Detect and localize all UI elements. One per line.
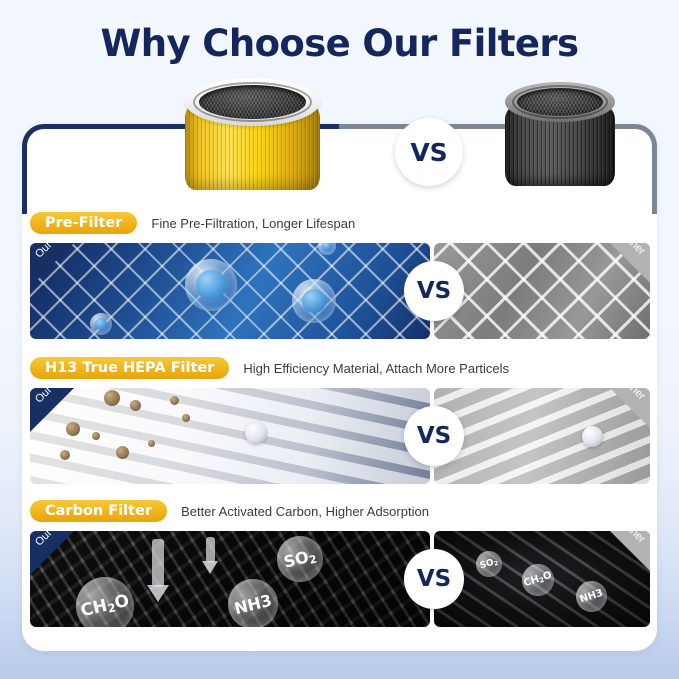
our-filter-product-image [185, 78, 320, 190]
molecule-nh3: NH3 [572, 577, 611, 616]
molecule-label: NH3 [579, 588, 605, 606]
comparison-panels: Our CH2O SO2 NH3 VS Other SO2 CH2O [30, 531, 650, 627]
section-hepa-filter: H13 True HEPA Filter High Efficiency Mat… [30, 355, 650, 484]
molecule-label: CH2O [522, 570, 553, 590]
other-pre-filter-panel: Other [434, 243, 650, 339]
other-filter-product-image [505, 82, 615, 186]
molecule-label: SO2 [479, 556, 500, 571]
section-header: H13 True HEPA Filter High Efficiency Mat… [30, 355, 650, 381]
adsorption-arrow-stem [206, 537, 215, 563]
pearl-particle [245, 422, 267, 444]
section-carbon-filter: Carbon Filter Better Activated Carbon, H… [30, 498, 650, 627]
adsorption-arrow-head [202, 561, 218, 574]
section-tagline: Better Activated Carbon, Higher Adsorpti… [181, 504, 429, 519]
dust-particle [116, 446, 129, 459]
adsorption-arrow-stem [152, 539, 164, 587]
section-pill-pre-filter: Pre-Filter [30, 212, 137, 234]
comparison-panels: Our VS Other [30, 243, 650, 339]
vs-badge-row: VS [404, 406, 464, 466]
our-hepa-panel: Our [30, 388, 430, 484]
particle-bubble [292, 279, 336, 323]
molecule-label: NH3 [232, 590, 273, 618]
vs-badge-hero: VS [395, 118, 463, 186]
section-tagline: Fine Pre-Filtration, Longer Lifespan [151, 216, 355, 231]
dust-particle [92, 432, 100, 440]
section-header: Carbon Filter Better Activated Carbon, H… [30, 498, 650, 524]
molecule-so2: SO2 [473, 548, 505, 580]
dust-particle [104, 390, 120, 406]
our-carbon-panel: Our CH2O SO2 NH3 [30, 531, 430, 627]
dust-particle [130, 400, 141, 411]
vs-badge-row: VS [404, 261, 464, 321]
particle-core [95, 318, 107, 330]
particle-core [302, 289, 327, 314]
comparison-panels: Our VS Other [30, 388, 650, 484]
dust-particle [182, 414, 190, 422]
filter-mesh-grille [517, 88, 603, 116]
section-tagline: High Efficiency Material, Attach More Pa… [243, 361, 509, 376]
molecule-ch2o: CH2O [70, 571, 140, 627]
section-pill-carbon: Carbon Filter [30, 500, 167, 522]
molecule-so2: SO2 [272, 531, 328, 587]
particle-core [322, 243, 332, 251]
section-pill-hepa: H13 True HEPA Filter [30, 357, 229, 379]
dust-particle [170, 396, 179, 405]
pearl-particle [582, 426, 603, 447]
vs-badge-row: VS [404, 549, 464, 609]
other-hepa-panel: Other [434, 388, 650, 484]
dust-particle [148, 440, 155, 447]
particle-bubble [90, 313, 112, 335]
filter-mesh-grille [199, 85, 306, 119]
particle-bubble [318, 243, 336, 255]
particle-core [196, 270, 225, 299]
section-pre-filter: Pre-Filter Fine Pre-Filtration, Longer L… [30, 210, 650, 339]
molecule-ch2o: CH2O [518, 560, 558, 600]
molecule-nh3: NH3 [223, 574, 284, 627]
particle-bubble [185, 259, 237, 311]
adsorption-arrow-head [147, 585, 169, 602]
our-pre-filter-panel: Our [30, 243, 430, 339]
dust-particle [60, 450, 70, 460]
hero-product-row: VS [0, 0, 679, 135]
molecule-label: SO2 [282, 545, 319, 573]
section-header: Pre-Filter Fine Pre-Filtration, Longer L… [30, 210, 650, 236]
other-carbon-panel: Other SO2 CH2O NH3 [434, 531, 650, 627]
molecule-label: CH2O [79, 590, 132, 621]
